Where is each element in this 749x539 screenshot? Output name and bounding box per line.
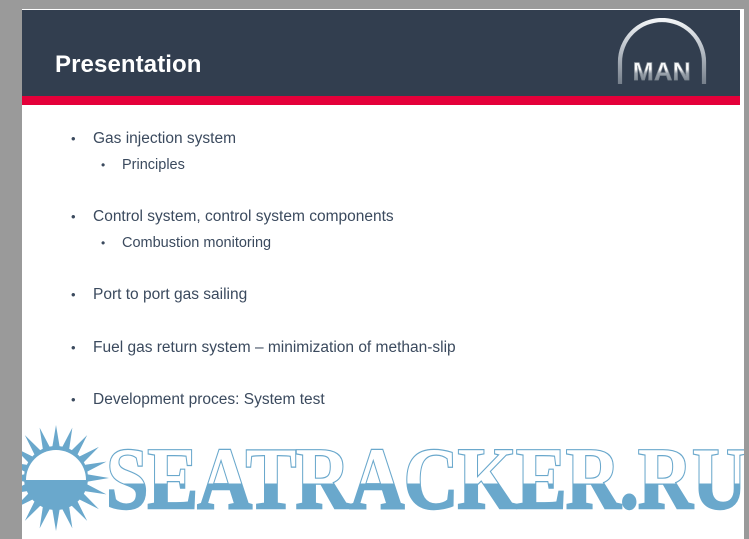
bullet-item: • Combustion monitoring — [101, 235, 271, 251]
man-logo-text: MAN — [633, 58, 691, 86]
bullet-label: Control system, control system component… — [93, 208, 394, 226]
slide-header: Presentation MAN — [22, 10, 740, 96]
slide-root: Presentation MAN — [0, 0, 749, 539]
frame-left — [0, 0, 22, 539]
bullet-marker: • — [101, 159, 122, 171]
bullet-marker: • — [71, 288, 93, 301]
bullet-marker: • — [101, 237, 122, 249]
accent-bar — [22, 96, 740, 105]
page-title: Presentation — [55, 51, 202, 79]
bullet-item: • Gas injection system — [71, 130, 236, 148]
bullet-label: Port to port gas sailing — [93, 286, 247, 304]
bullet-marker: • — [71, 393, 93, 406]
bullet-label: Gas injection system — [93, 130, 236, 148]
slide-body: • Gas injection system • Principles • Co… — [22, 105, 740, 539]
bullet-marker: • — [71, 210, 93, 223]
bullet-item: • Development proces: System test — [71, 391, 325, 409]
bullet-marker: • — [71, 132, 93, 145]
bullet-item: • Principles — [101, 157, 185, 173]
bullet-marker: • — [71, 341, 93, 354]
bullet-label: Development proces: System test — [93, 391, 325, 409]
bullet-item: • Port to port gas sailing — [71, 286, 247, 304]
man-logo: MAN — [614, 18, 710, 88]
bullet-label: Combustion monitoring — [122, 235, 271, 251]
frame-top — [0, 0, 749, 9]
frame-right — [744, 0, 749, 539]
bullet-label: Fuel gas return system – minimization of… — [93, 339, 456, 357]
bullet-item: • Fuel gas return system – minimization … — [71, 339, 456, 357]
bullet-item: • Control system, control system compone… — [71, 208, 394, 226]
bullet-label: Principles — [122, 157, 185, 173]
